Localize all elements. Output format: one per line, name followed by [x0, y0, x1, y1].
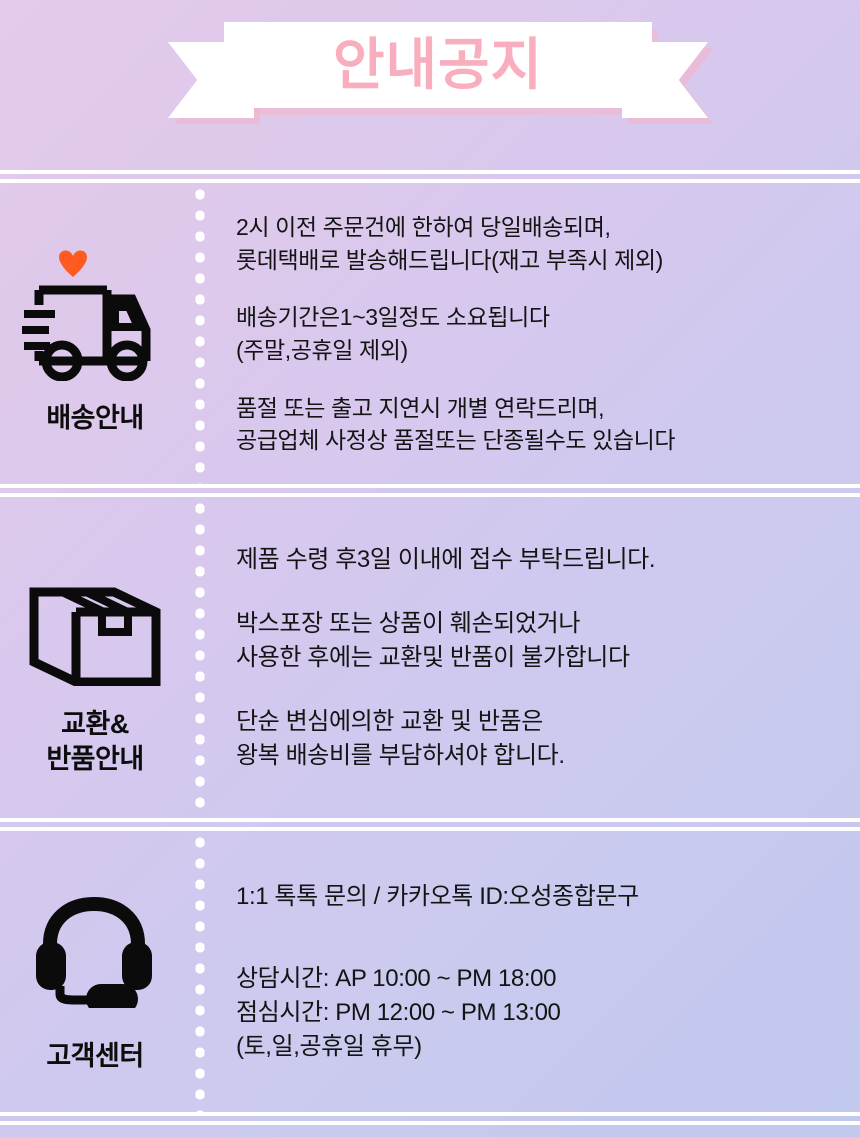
section-customer-service: 고객센터 1:1 톡톡 문의 / 카카오톡 ID:오성종합문구 상담시간: AP… — [0, 832, 860, 1112]
banner-header: 안내공지 — [0, 0, 860, 170]
section-divider-top — [0, 170, 860, 184]
service-paragraph-1: 1:1 톡톡 문의 / 카카오톡 ID:오성종합문구 — [236, 880, 840, 914]
service-dotted-divider — [190, 832, 210, 1112]
text-line: 점심시간: PM 12:00 ~ PM 13:00 — [236, 996, 840, 1030]
ribbon-body: 안내공지 — [224, 22, 652, 108]
dotted-line — [196, 498, 205, 818]
exchange-label-line: 교환& — [46, 707, 143, 742]
text-line: (주말,공휴일 제외) — [236, 334, 840, 367]
exchange-icon-column: 교환& 반품안내 — [0, 498, 190, 818]
section-divider-2 — [0, 818, 860, 832]
section-divider-bottom — [0, 1112, 860, 1126]
headset-support-icon — [32, 877, 158, 1027]
delivery-dotted-divider — [190, 184, 210, 484]
banner-title: 안내공지 — [333, 37, 543, 93]
delivery-truck-icon — [22, 239, 168, 389]
text-line: 제품 수령 후3일 이내에 접수 부탁드립니다. — [236, 543, 840, 577]
exchange-paragraph-2: 박스포장 또는 상품이 훼손되었거나 사용한 후에는 교환및 반품이 불가합니다 — [236, 607, 840, 675]
text-line: (토,일,공휴일 휴무) — [236, 1030, 840, 1064]
text-line: 2시 이전 주문건에 한하여 당일배송되며, — [236, 211, 840, 244]
service-icon-column: 고객센터 — [0, 832, 190, 1112]
dotted-line — [196, 832, 205, 1112]
exchange-label: 교환& 반품안내 — [46, 707, 143, 776]
delivery-label-line: 배송안내 — [46, 403, 143, 433]
text-line: 왕복 배송비를 부담하셔야 합니다. — [236, 739, 840, 773]
notice-board: 안내공지 — [0, 0, 860, 1137]
exchange-label-line: 반품안내 — [46, 742, 143, 777]
section-exchange-return: 교환& 반품안내 제품 수령 후3일 이내에 접수 부탁드립니다. 박스포장 또… — [0, 498, 860, 818]
dotted-line — [196, 184, 205, 484]
delivery-paragraph-3: 품절 또는 출고 지연시 개별 연락드리며, 공급업체 사정상 품절또는 단종될… — [236, 392, 840, 457]
text-line: 롯데택배로 발송해드립니다(재고 부족시 제외) — [236, 244, 840, 277]
delivery-paragraph-2: 배송기간은1~3일정도 소요됩니다 (주말,공휴일 제외) — [236, 301, 840, 366]
service-label: 고객센터 — [46, 1039, 143, 1074]
ribbon: 안내공지 — [168, 22, 708, 119]
text-line: 상담시간: AP 10:00 ~ PM 18:00 — [236, 962, 840, 996]
exchange-paragraph-3: 단순 변심에의한 교환 및 반품은 왕복 배송비를 부담하셔야 합니다. — [236, 705, 840, 773]
delivery-paragraph-1: 2시 이전 주문건에 한하여 당일배송되며, 롯데택배로 발송해드립니다(재고 … — [236, 211, 840, 276]
exchange-dotted-divider — [190, 498, 210, 818]
text-line: 품절 또는 출고 지연시 개별 연락드리며, — [236, 392, 840, 425]
exchange-paragraph-1: 제품 수령 후3일 이내에 접수 부탁드립니다. — [236, 543, 840, 577]
delivery-icon-column: 배송안내 — [0, 184, 190, 484]
package-box-icon — [24, 545, 166, 695]
section-divider-1 — [0, 484, 860, 498]
delivery-label: 배송안내 — [46, 401, 143, 436]
text-line: 공급업체 사정상 품절또는 단종될수도 있습니다 — [236, 424, 840, 457]
delivery-text-column: 2시 이전 주문건에 한하여 당일배송되며, 롯데택배로 발송해드립니다(재고 … — [210, 184, 860, 484]
text-line: 박스포장 또는 상품이 훼손되었거나 — [236, 607, 840, 641]
text-line: 사용한 후에는 교환및 반품이 불가합니다 — [236, 641, 840, 675]
service-text-column: 1:1 톡톡 문의 / 카카오톡 ID:오성종합문구 상담시간: AP 10:0… — [210, 832, 860, 1112]
text-line: 배송기간은1~3일정도 소요됩니다 — [236, 301, 840, 334]
text-line: 1:1 톡톡 문의 / 카카오톡 ID:오성종합문구 — [236, 880, 840, 914]
bottom-spacer — [0, 1126, 860, 1137]
section-delivery: 배송안내 2시 이전 주문건에 한하여 당일배송되며, 롯데택배로 발송해드립니… — [0, 184, 860, 484]
service-paragraph-2: 상담시간: AP 10:00 ~ PM 18:00 점심시간: PM 12:00… — [236, 962, 840, 1064]
exchange-text-column: 제품 수령 후3일 이내에 접수 부탁드립니다. 박스포장 또는 상품이 훼손되… — [210, 498, 860, 818]
text-line: 단순 변심에의한 교환 및 반품은 — [236, 705, 840, 739]
service-label-line: 고객센터 — [46, 1041, 143, 1071]
